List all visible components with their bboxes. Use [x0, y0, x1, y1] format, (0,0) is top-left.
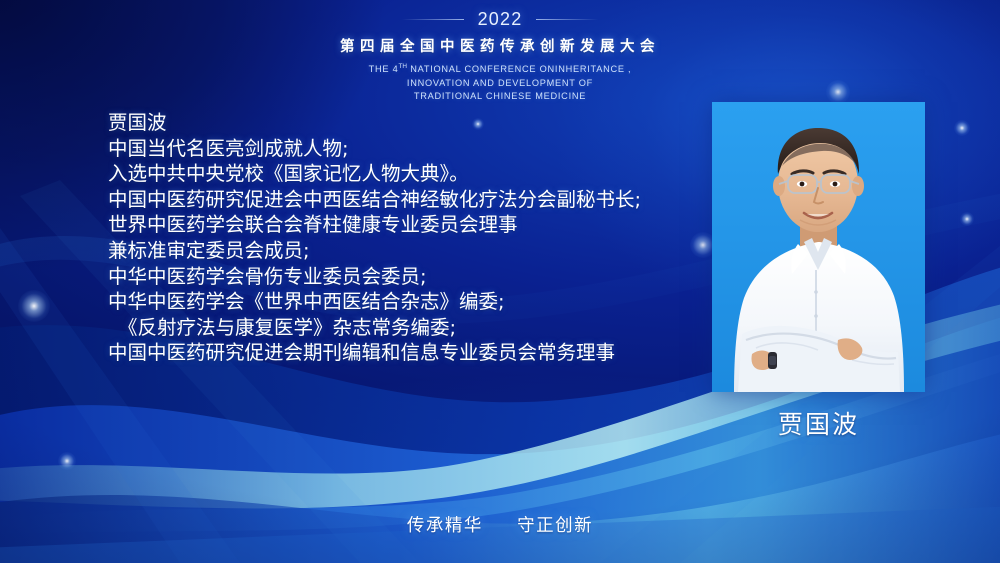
- conference-header: 2022 第四届全国中医药传承创新发展大会 THE 4TH NATIONAL C…: [0, 0, 1000, 104]
- presentation-slide: 2022 第四届全国中医药传承创新发展大会 THE 4TH NATIONAL C…: [0, 0, 1000, 563]
- bio-line: 中国中医药研究促进会期刊编辑和信息专业委员会常务理事: [108, 340, 708, 366]
- bio-line: 入选中共中央党校《国家记忆人物大典》。: [108, 161, 708, 187]
- conference-title-en-line2: INNOVATION AND DEVELOPMENT OF: [0, 77, 1000, 91]
- conference-slogan: 传承精华 守正创新: [0, 512, 1000, 537]
- bio-line: 中华中医药学会骨伤专业委员会委员;: [108, 264, 708, 290]
- year-rule-left: [402, 19, 464, 20]
- bio-line: 贾国波: [108, 110, 708, 136]
- bio-line: 《反射疗法与康复医学》杂志常务编委;: [108, 315, 708, 341]
- portrait-photo: [712, 102, 925, 392]
- speaker-name-caption: 贾国波: [712, 405, 925, 441]
- conference-title-en-line1: THE 4TH NATIONAL CONFERENCE ONINHERITANC…: [0, 62, 1000, 77]
- bio-line: 中国当代名医亮剑成就人物;: [108, 136, 708, 162]
- en-line1-pre: THE 4: [369, 64, 399, 74]
- bio-line: 世界中医药学会联合会脊柱健康专业委员会理事: [108, 212, 708, 238]
- slogan-left: 传承精华: [407, 516, 483, 536]
- bio-line: 中华中医药学会《世界中西医结合杂志》编委;: [108, 289, 708, 315]
- bio-line: 中国中医药研究促进会中西医结合神经敏化疗法分会副秘书长;: [108, 187, 708, 213]
- en-line1-post: NATIONAL CONFERENCE ONINHERITANCE ,: [407, 64, 631, 74]
- conference-title-en: THE 4TH NATIONAL CONFERENCE ONINHERITANC…: [0, 62, 1000, 104]
- year-rule-right: [536, 19, 598, 20]
- conference-title-cn: 第四届全国中医药传承创新发展大会: [0, 35, 1000, 56]
- portrait-illustration: [712, 102, 925, 392]
- portrait-photo-frame: [712, 102, 925, 392]
- ordinal-suffix: TH: [398, 63, 407, 70]
- biography-text-block: 贾国波 中国当代名医亮剑成就人物; 入选中共中央党校《国家记忆人物大典》。 中国…: [108, 110, 708, 366]
- slogan-right: 守正创新: [517, 516, 593, 536]
- year-row: 2022: [0, 9, 1000, 30]
- bio-line: 兼标准审定委员会成员;: [108, 238, 708, 264]
- year-label: 2022: [478, 9, 523, 30]
